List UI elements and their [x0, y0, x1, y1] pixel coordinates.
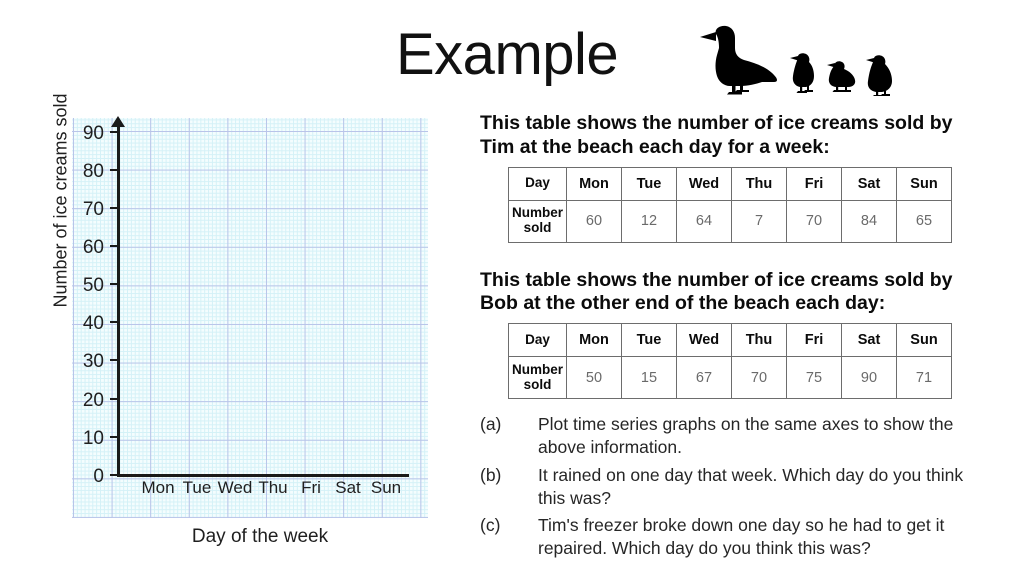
- table-two-head-wed: Wed: [677, 324, 732, 357]
- y-tick-label-30: 30: [64, 352, 104, 371]
- table-one-value-mon: 60: [567, 200, 622, 242]
- table-row: Day Mon Tue Wed Thu Fri Sat Sun: [509, 324, 952, 357]
- questions-list: (a) Plot time series graphs on the same …: [480, 413, 980, 561]
- table-one-heading: This table shows the number of ice cream…: [480, 112, 980, 160]
- table-two-value-tue: 15: [622, 357, 677, 399]
- table-two-value-thu: 70: [732, 357, 787, 399]
- question-item-b: (b) It rained on one day that week. Whic…: [480, 464, 980, 511]
- ice-cream-table-bob: Day Mon Tue Wed Thu Fri Sat Sun Number s…: [508, 323, 952, 399]
- table-two-heading: This table shows the number of ice cream…: [480, 269, 980, 317]
- x-axis-line: [117, 474, 409, 477]
- table-one-value-fri: 70: [787, 200, 842, 242]
- table-one-head-mon: Mon: [567, 167, 622, 200]
- table-two-value-sat: 90: [842, 357, 897, 399]
- y-tick-mark: [110, 436, 118, 438]
- table-two-value-sun: 71: [897, 357, 952, 399]
- question-marker-b: (b): [480, 464, 538, 511]
- table-two-value-fri: 75: [787, 357, 842, 399]
- duck-silhouette-icon: [686, 24, 782, 101]
- question-text-c: Tim's freezer broke down one day so he h…: [538, 514, 980, 561]
- question-item-a: (a) Plot time series graphs on the same …: [480, 413, 980, 460]
- y-tick-mark: [110, 321, 118, 323]
- y-tick-label-10: 10: [64, 429, 104, 448]
- question-text-a: Plot time series graphs on the same axes…: [538, 413, 980, 460]
- table-one-head-fri: Fri: [787, 167, 842, 200]
- y-tick-mark: [110, 131, 118, 133]
- table-one-value-tue: 12: [622, 200, 677, 242]
- table-two-head-mon: Mon: [567, 324, 622, 357]
- y-tick-mark: [110, 207, 118, 209]
- table-two-row-label-number-sold: Number sold: [509, 357, 567, 399]
- table-one-value-wed: 64: [677, 200, 732, 242]
- table-two-row-label-day: Day: [509, 324, 567, 357]
- table-row: Day Mon Tue Wed Thu Fri Sat Sun: [509, 167, 952, 200]
- y-tick-label-0: 0: [64, 467, 104, 486]
- table-row: Number sold 50 15 67 70 75 90 71: [509, 357, 952, 399]
- table-two-value-wed: 67: [677, 357, 732, 399]
- slide-canvas: Example: [0, 0, 1024, 576]
- table-one-value-sun: 65: [897, 200, 952, 242]
- table-row: Number sold 60 12 64 7 70 84 65: [509, 200, 952, 242]
- y-tick-mark: [110, 245, 118, 247]
- page-title: Example: [396, 26, 618, 84]
- table-two-head-fri: Fri: [787, 324, 842, 357]
- table-one-head-sat: Sat: [842, 167, 897, 200]
- section-spacer: [480, 243, 980, 269]
- table-one-head-thu: Thu: [732, 167, 787, 200]
- x-tick-label-sun: Sun: [360, 479, 412, 496]
- ducklings-silhouette-icon: [788, 52, 900, 101]
- y-tick-mark: [110, 169, 118, 171]
- table-one-head-sun: Sun: [897, 167, 952, 200]
- graph-grid-paper: [72, 118, 428, 518]
- table-two-head-sat: Sat: [842, 324, 897, 357]
- y-tick-mark: [110, 283, 118, 285]
- question-marker-c: (c): [480, 514, 538, 561]
- question-item-c: (c) Tim's freezer broke down one day so …: [480, 514, 980, 561]
- y-tick-mark: [110, 474, 118, 476]
- y-tick-label-20: 20: [64, 391, 104, 410]
- table-two-value-mon: 50: [567, 357, 622, 399]
- y-axis-line: [117, 124, 120, 476]
- question-marker-a: (a): [480, 413, 538, 460]
- y-axis-title: Number of ice creams sold: [51, 81, 72, 321]
- table-one-head-tue: Tue: [622, 167, 677, 200]
- table-one-value-sat: 84: [842, 200, 897, 242]
- question-text-b: It rained on one day that week. Which da…: [538, 464, 980, 511]
- table-two-head-thu: Thu: [732, 324, 787, 357]
- table-one-row-label-number-sold: Number sold: [509, 200, 567, 242]
- right-content-column: This table shows the number of ice cream…: [480, 112, 980, 565]
- table-one-row-label-day: Day: [509, 167, 567, 200]
- x-axis-title: Day of the week: [120, 526, 400, 548]
- table-one-value-thu: 7: [732, 200, 787, 242]
- y-tick-mark: [110, 398, 118, 400]
- table-one-head-wed: Wed: [677, 167, 732, 200]
- y-tick-mark: [110, 359, 118, 361]
- table-two-head-sun: Sun: [897, 324, 952, 357]
- table-two-head-tue: Tue: [622, 324, 677, 357]
- ice-cream-table-tim: Day Mon Tue Wed Thu Fri Sat Sun Number s…: [508, 167, 952, 243]
